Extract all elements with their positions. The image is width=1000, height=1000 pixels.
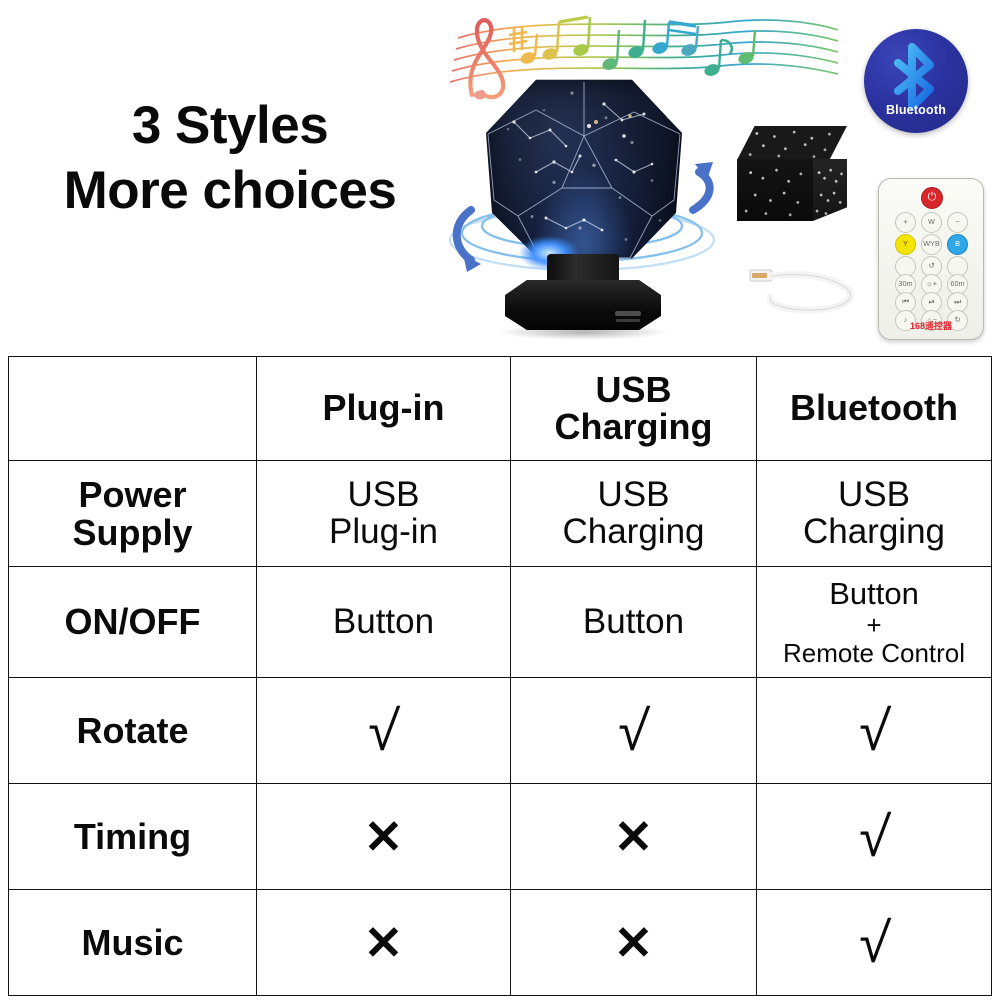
remote-button-wyb: WYB [921, 234, 942, 255]
headline-line-1: 3 Styles [30, 96, 430, 155]
star-projector-lamp-icon [437, 58, 727, 358]
cell-timing-usb-charging: ✕ [511, 784, 757, 890]
hero-section: 3 Styles More choices [0, 0, 1000, 357]
table-row-music: Music ✕ ✕ √ [9, 890, 992, 996]
lamp-globe [484, 76, 684, 266]
cell-onoff-usb-charging: Button [511, 567, 757, 678]
remote-control-icon: ⏻ + W − Y WYB B ↺ 30m ☼+ 60m ⏮ ⏯ ⏭ ♪ ☼− … [878, 178, 984, 340]
cell-power-supply-plugin: USB Plug-in [257, 461, 511, 567]
cell-music-bluetooth: √ [757, 890, 992, 996]
cross-mark: ✕ [614, 919, 653, 966]
bluetooth-badge-label: Bluetooth [864, 103, 968, 117]
column-header-usb-charging: USB Charging [511, 357, 757, 461]
table-row-power-supply: Power Supply USB Plug-in USB Charging US… [9, 461, 992, 567]
cell-onoff-bluetooth: Button + Remote Control [757, 567, 992, 678]
lamp-shadow [497, 324, 669, 340]
remote-button-plus: + [895, 212, 916, 233]
row-label-rotate: Rotate [9, 678, 257, 784]
cell-rotate-bluetooth: √ [757, 678, 992, 784]
usb-cable-icon [748, 252, 868, 322]
table-corner-cell [9, 357, 257, 461]
lamp-base [505, 254, 661, 330]
check-mark: √ [616, 703, 651, 759]
cell-power-supply-usb-charging: USB Charging [511, 461, 757, 567]
cell-onoff-plugin: Button [257, 567, 511, 678]
table-row-onoff: ON/OFF Button Button Button + Remote Con… [9, 567, 992, 678]
comparison-table: Plug-in USB Charging Bluetooth Power Sup… [8, 356, 992, 996]
cross-mark: ✕ [364, 813, 403, 860]
cross-mark: ✕ [614, 813, 653, 860]
page-title: 3 Styles More choices [30, 96, 430, 221]
table-row-timing: Timing ✕ ✕ √ [9, 784, 992, 890]
cell-rotate-plugin: √ [257, 678, 511, 784]
row-label-power-supply: Power Supply [9, 461, 257, 567]
row-label-music: Music [9, 890, 257, 996]
table-row-rotate: Rotate √ √ √ [9, 678, 992, 784]
remote-button-b: B [947, 234, 968, 255]
remote-button-y: Y [895, 234, 916, 255]
row-label-timing: Timing [9, 784, 257, 890]
column-header-plugin: Plug-in [257, 357, 511, 461]
cell-music-usb-charging: ✕ [511, 890, 757, 996]
cell-timing-bluetooth: √ [757, 784, 992, 890]
check-mark: √ [366, 703, 401, 759]
cell-power-supply-bluetooth: USB Charging [757, 461, 992, 567]
headline-line-2: More choices [30, 161, 430, 220]
row-label-onoff: ON/OFF [9, 567, 257, 678]
cell-music-plugin: ✕ [257, 890, 511, 996]
check-mark: √ [857, 703, 892, 759]
column-header-bluetooth: Bluetooth [757, 357, 992, 461]
check-mark: √ [857, 809, 892, 865]
constellation-gift-box-icon [737, 126, 847, 226]
remote-button-minus: − [947, 212, 968, 233]
cell-timing-plugin: ✕ [257, 784, 511, 890]
bluetooth-icon [898, 47, 930, 107]
remote-power-button: ⏻ [921, 187, 943, 209]
check-mark: √ [857, 915, 892, 971]
cross-mark: ✕ [364, 919, 403, 966]
cell-rotate-usb-charging: √ [511, 678, 757, 784]
remote-model-label: 168遥控器 [879, 319, 983, 332]
table-header-row: Plug-in USB Charging Bluetooth [9, 357, 992, 461]
remote-button-w: W [921, 212, 942, 233]
bluetooth-badge: Bluetooth [864, 29, 968, 133]
